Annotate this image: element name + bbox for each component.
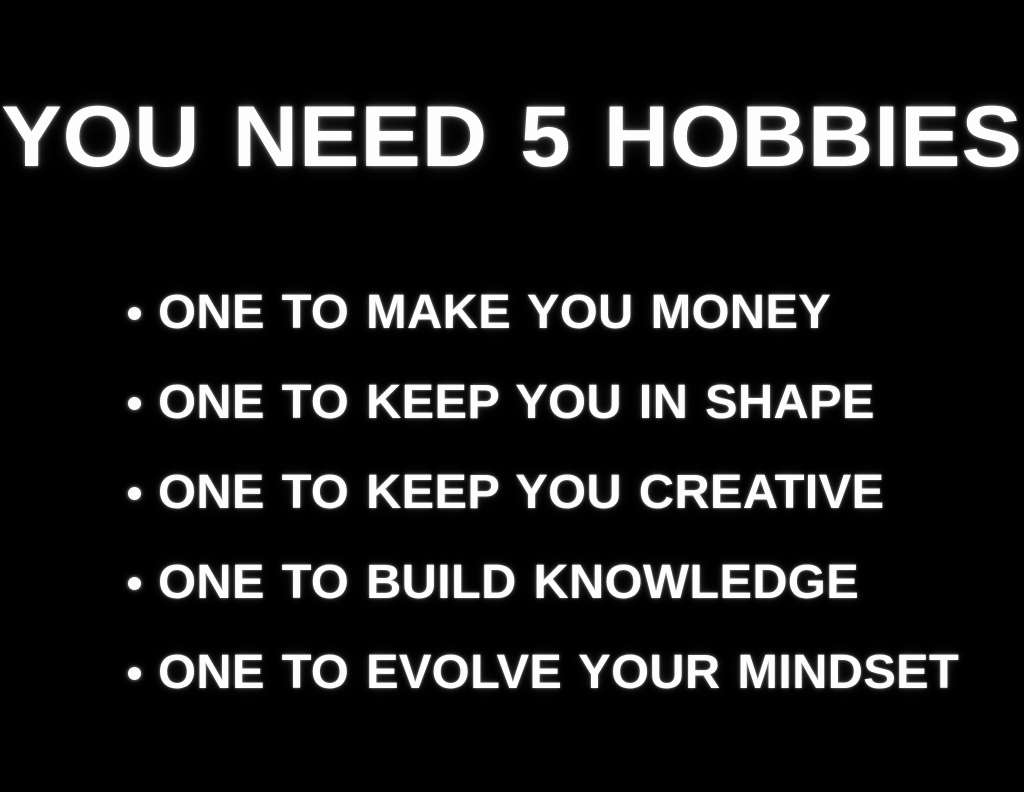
hobby-list: ONE TO MAKE YOU MONEY ONE TO KEEP YOU IN… [120,268,980,718]
bullet-icon [128,487,141,500]
bullet-icon [128,577,141,590]
bullet-icon [128,667,141,680]
poster-title-container: YOU NEED 5 HOBBIES [0,36,1024,237]
list-item: ONE TO KEEP YOU CREATIVE [120,448,980,538]
bullet-icon [128,307,141,320]
list-item-label: ONE TO KEEP YOU CREATIVE [158,469,884,517]
motivational-poster: YOU NEED 5 HOBBIES ONE TO MAKE YOU MONEY… [0,0,1024,792]
page-title: YOU NEED 5 HOBBIES [1,94,1022,180]
list-item-label: ONE TO BUILD KNOWLEDGE [158,559,859,607]
list-item-label: ONE TO EVOLVE YOUR MINDSET [158,649,959,697]
list-item: ONE TO BUILD KNOWLEDGE [120,538,980,628]
list-item-label: ONE TO MAKE YOU MONEY [158,289,831,337]
list-item: ONE TO EVOLVE YOUR MINDSET [120,628,980,718]
list-item: ONE TO KEEP YOU IN SHAPE [120,358,980,448]
list-item: ONE TO MAKE YOU MONEY [120,268,980,358]
bullet-icon [128,397,141,410]
list-item-label: ONE TO KEEP YOU IN SHAPE [158,379,875,427]
